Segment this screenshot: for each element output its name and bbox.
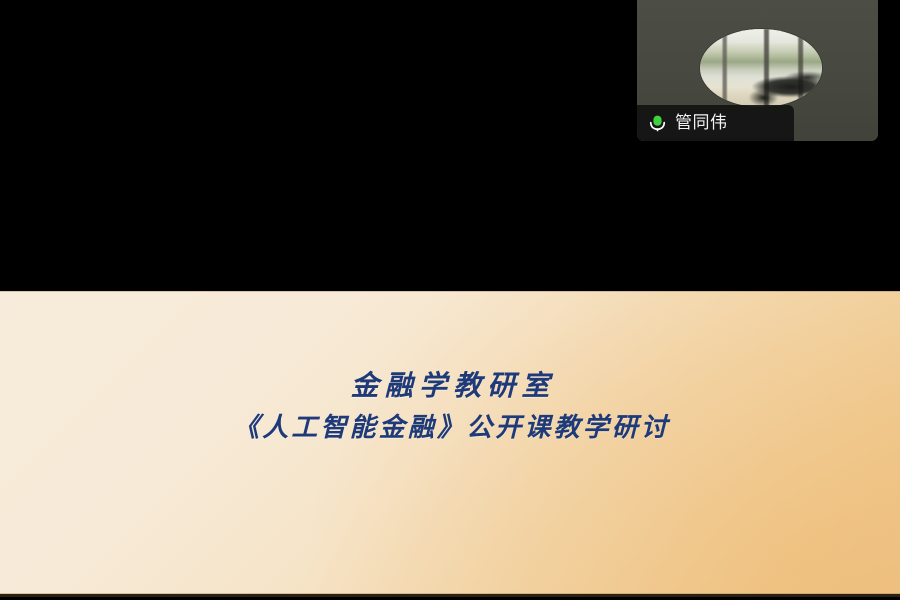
meeting-screen: 金融学教研室 《人工智能金融》公开课教学研讨 管同伟 bbox=[0, 0, 900, 600]
microphone-active-icon[interactable] bbox=[648, 114, 667, 133]
slide-title-line-2: 《人工智能金融》公开课教学研讨 bbox=[0, 412, 900, 444]
slide-title-block: 金融学教研室 《人工智能金融》公开课教学研讨 bbox=[0, 369, 900, 444]
slide-footer-strip bbox=[0, 594, 900, 597]
slide-title-line-1: 金融学教研室 bbox=[0, 369, 900, 403]
slide-top-edge bbox=[0, 291, 900, 292]
slide-canvas: 金融学教研室 《人工智能金融》公开课教学研讨 bbox=[0, 291, 900, 597]
avatar bbox=[700, 29, 822, 107]
avatar-photo bbox=[700, 29, 822, 107]
participant-name-label: 管同伟 bbox=[675, 114, 728, 133]
participant-name-bar: 管同伟 bbox=[637, 105, 794, 141]
presentation-slide[interactable]: 金融学教研室 《人工智能金融》公开课教学研讨 bbox=[0, 291, 900, 597]
slide-background-sheen bbox=[300, 291, 900, 597]
participant-video-tile[interactable]: 管同伟 bbox=[637, 0, 878, 141]
